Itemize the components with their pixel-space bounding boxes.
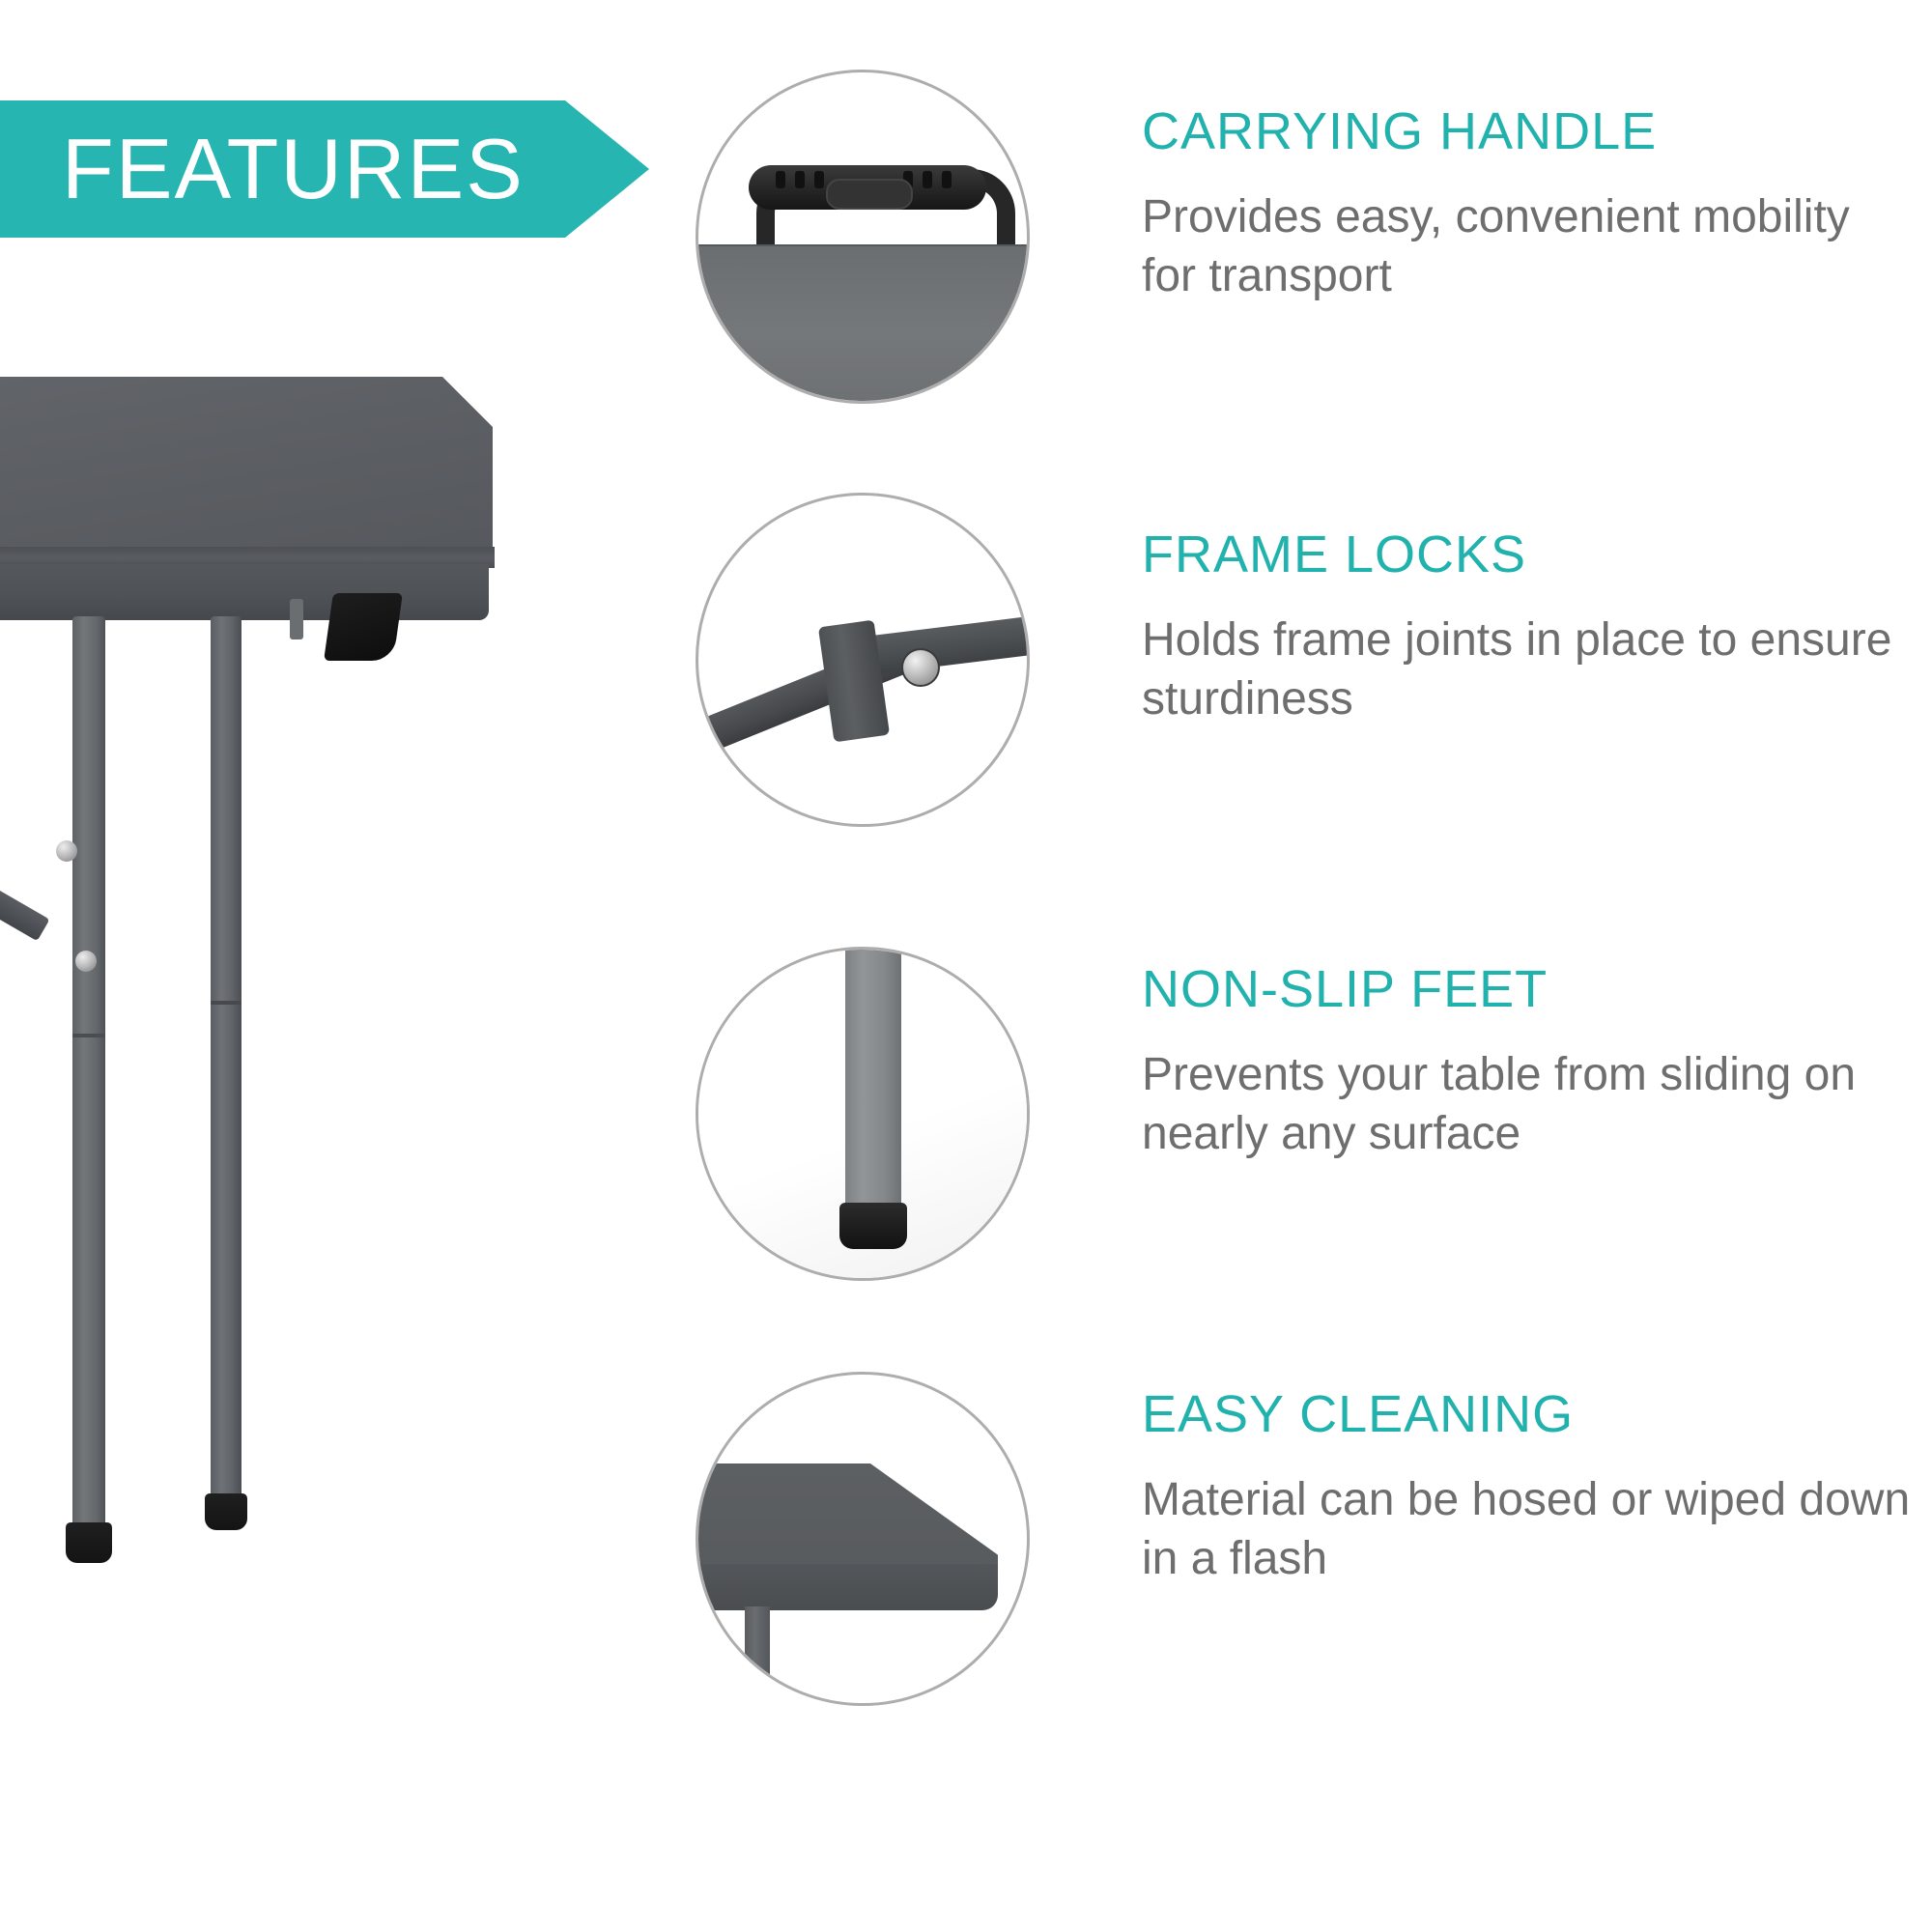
leg-screw-upper-icon bbox=[56, 840, 77, 862]
non-slip-feet-body: Prevents your table from sliding on near… bbox=[1142, 1046, 1915, 1163]
non-slip-feet-art bbox=[698, 950, 1027, 1278]
feature-carrying-handle: CARRYING HANDLE Provides easy, convenien… bbox=[696, 70, 1922, 475]
feature-non-slip-feet: NON-SLIP FEET Prevents your table from s… bbox=[696, 927, 1922, 1333]
carrying-handle-title: CARRYING HANDLE bbox=[1142, 104, 1915, 159]
carrying-handle-body: Provides easy, convenient mobility for t… bbox=[1142, 188, 1915, 305]
non-slip-feet-title: NON-SLIP FEET bbox=[1142, 962, 1915, 1017]
grip-ridge-icon bbox=[776, 171, 785, 188]
easy-cleaning-image bbox=[696, 1372, 1030, 1706]
features-banner-label: FEATURES bbox=[0, 127, 525, 212]
support-brace-long bbox=[0, 649, 49, 942]
table-foot-back bbox=[205, 1493, 247, 1530]
frame-locks-image bbox=[696, 493, 1030, 827]
leg-seam-front bbox=[72, 1034, 105, 1037]
easy-cleaning-title: EASY CLEANING bbox=[1142, 1387, 1915, 1442]
non-slip-feet-image bbox=[696, 947, 1030, 1281]
frame-locks-title: FRAME LOCKS bbox=[1142, 527, 1915, 582]
tabletop-surface bbox=[0, 377, 522, 560]
tabletop-corner-top bbox=[696, 1463, 998, 1570]
tabletop-corner-face bbox=[696, 1564, 998, 1610]
handle-pad-icon bbox=[826, 179, 913, 210]
folding-latch-icon bbox=[324, 593, 403, 661]
folding-table-photo bbox=[0, 357, 551, 1478]
carrying-handle-image bbox=[696, 70, 1030, 404]
table-leg-front bbox=[72, 616, 105, 1534]
grip-ridge-icon bbox=[795, 171, 805, 188]
feature-easy-cleaning: EASY CLEANING Material can be hosed or w… bbox=[696, 1352, 1922, 1758]
latch-hook-icon bbox=[290, 599, 303, 639]
easy-cleaning-art bbox=[698, 1375, 1027, 1703]
table-leg-back bbox=[211, 616, 241, 1505]
non-slip-feet-text: NON-SLIP FEET Prevents your table from s… bbox=[1142, 962, 1915, 1163]
corner-leg-icon bbox=[745, 1606, 770, 1706]
carrying-handle-text: CARRYING HANDLE Provides easy, convenien… bbox=[1142, 104, 1915, 305]
infographic-page: FEATURES bbox=[0, 0, 1932, 1932]
grip-ridge-icon bbox=[942, 171, 952, 188]
grip-ridge-icon bbox=[814, 171, 824, 188]
leg-tube-icon bbox=[845, 947, 901, 1210]
tabletop-apron bbox=[0, 564, 489, 620]
table-foot-front bbox=[66, 1522, 112, 1563]
grip-ridge-icon bbox=[923, 171, 932, 188]
tabletop-slab bbox=[696, 246, 1030, 404]
easy-cleaning-body: Material can be hosed or wiped down in a… bbox=[1142, 1471, 1915, 1588]
frame-locks-text: FRAME LOCKS Holds frame joints in place … bbox=[1142, 527, 1915, 728]
carrying-handle-art bbox=[698, 72, 1027, 401]
rubber-foot-cap-icon bbox=[839, 1203, 907, 1249]
leg-screw-lower-icon bbox=[75, 951, 97, 972]
feature-frame-locks: FRAME LOCKS Holds frame joints in place … bbox=[696, 493, 1922, 898]
frame-locks-art bbox=[698, 496, 1027, 824]
frame-lock-rivet-icon bbox=[901, 648, 940, 687]
features-banner: FEATURES bbox=[0, 100, 649, 238]
frame-locks-body: Holds frame joints in place to ensure st… bbox=[1142, 611, 1915, 728]
leg-seam-back bbox=[211, 1001, 241, 1005]
easy-cleaning-text: EASY CLEANING Material can be hosed or w… bbox=[1142, 1387, 1915, 1588]
